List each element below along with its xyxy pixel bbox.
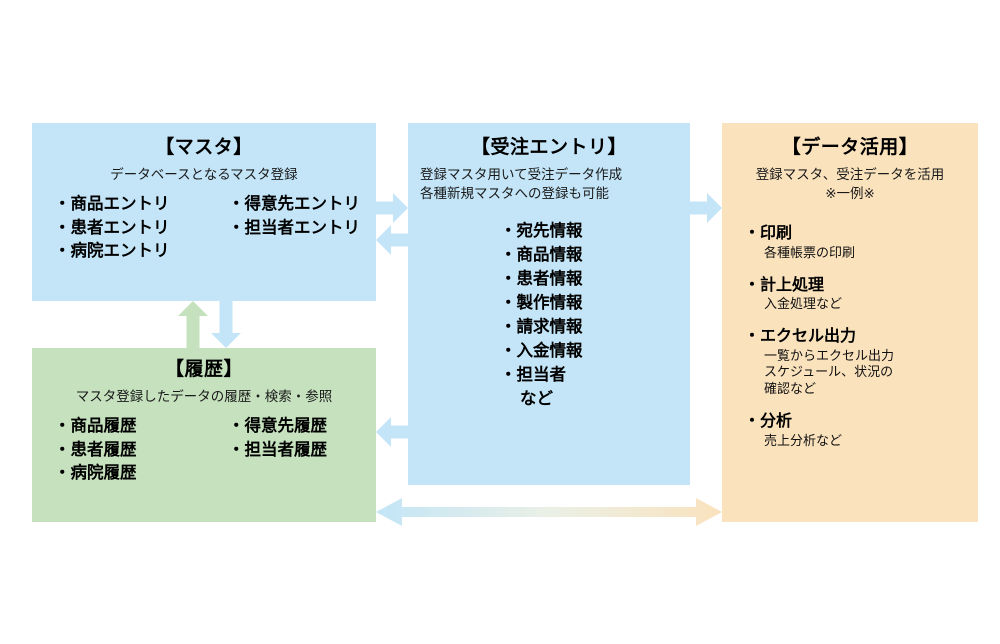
list-item: 入金情報 [500, 340, 690, 364]
list-item: 患者履歴 [54, 439, 137, 463]
data-group-description: 確認など [744, 381, 978, 398]
data-group-excel-export: エクセル出力 一覧からエクセル出力 スケジュール、状況の 確認など [744, 327, 978, 398]
history-box-subtitle: マスタ登録したデータの履歴・検索・参照 [32, 388, 376, 406]
list-item: 担当者 [500, 364, 690, 388]
order-entry-trailing-note: など [500, 388, 690, 412]
arrow-order-to-history-icon [376, 417, 408, 447]
arrow-order-to-data-icon [690, 193, 722, 223]
data-group-description: 売上分析など [744, 433, 978, 450]
arrow-history-data-bidirectional-icon [376, 496, 722, 528]
master-box-subtitle: データベースとなるマスタ登録 [32, 166, 376, 184]
list-item: 宛先情報 [500, 220, 690, 244]
history-list-column-right: 得意先履歴 担当者履歴 [228, 415, 327, 462]
list-item: 得意先エントリ [228, 193, 360, 217]
master-box: 【マスタ】 データベースとなるマスタ登録 商品エントリ 患者エントリ 病院エント… [32, 123, 376, 301]
diagram-canvas: 【マスタ】 データベースとなるマスタ登録 商品エントリ 患者エントリ 病院エント… [0, 0, 1000, 644]
data-utilization-box: 【データ活用】 登録マスタ、受注データを活用 ※一例※ 印刷 各種帳票の印刷 計… [722, 123, 978, 522]
arrow-order-to-master-icon [376, 225, 408, 255]
history-list-column-left: 商品履歴 患者履歴 病院履歴 [54, 415, 137, 486]
arrow-master-to-history-icon [211, 301, 241, 348]
order-entry-subtitle-2: 各種新規マスタへの登録も可能 [408, 185, 690, 203]
data-group-heading: エクセル出力 [744, 327, 978, 348]
list-item: 商品履歴 [54, 415, 137, 439]
data-group-print: 印刷 各種帳票の印刷 [744, 224, 978, 261]
list-item: 担当者履歴 [228, 439, 327, 463]
list-item: 商品情報 [500, 244, 690, 268]
data-group-description: 入金処理など [744, 296, 978, 313]
data-group-description: スケジュール、状況の [744, 364, 978, 381]
data-utilization-subtitle-1: 登録マスタ、受注データを活用 [722, 166, 978, 184]
data-group-heading: 分析 [744, 412, 978, 433]
data-utilization-subtitle-2: ※一例※ [722, 185, 978, 203]
arrow-master-to-order-icon [376, 193, 408, 223]
order-entry-subtitle-1: 登録マスタ用いて受注データ作成 [408, 166, 690, 184]
data-utilization-list: 印刷 各種帳票の印刷 計上処理 入金処理など エクセル出力 一覧からエクセル出力… [722, 224, 978, 449]
data-group-heading: 印刷 [744, 224, 978, 245]
list-item: 請求情報 [500, 316, 690, 340]
data-group-description: 一覧からエクセル出力 [744, 348, 978, 365]
order-entry-box: 【受注エントリ】 登録マスタ用いて受注データ作成 各種新規マスタへの登録も可能 … [408, 123, 690, 485]
history-box: 【履歴】 マスタ登録したデータの履歴・検索・参照 商品履歴 患者履歴 病院履歴 … [32, 348, 376, 522]
arrow-history-to-master-icon [178, 301, 208, 348]
list-item: 製作情報 [500, 292, 690, 316]
master-list-column-left: 商品エントリ 患者エントリ 病院エントリ [54, 193, 170, 264]
data-utilization-box-title: 【データ活用】 [722, 136, 978, 160]
list-item: 患者エントリ [54, 217, 170, 241]
order-entry-box-title: 【受注エントリ】 [408, 136, 690, 160]
list-item: 病院エントリ [54, 240, 170, 264]
list-item: 得意先履歴 [228, 415, 327, 439]
data-group-accounting: 計上処理 入金処理など [744, 276, 978, 313]
list-item: 患者情報 [500, 268, 690, 292]
history-box-title: 【履歴】 [32, 358, 376, 382]
list-item: 商品エントリ [54, 193, 170, 217]
data-group-analysis: 分析 売上分析など [744, 412, 978, 449]
data-group-description: 各種帳票の印刷 [744, 245, 978, 262]
list-item: 病院履歴 [54, 462, 137, 486]
master-list-column-right: 得意先エントリ 担当者エントリ [228, 193, 360, 240]
order-entry-list: 宛先情報 商品情報 患者情報 製作情報 請求情報 入金情報 担当者 など [408, 220, 690, 411]
data-group-heading: 計上処理 [744, 276, 978, 297]
list-item: 担当者エントリ [228, 217, 360, 241]
master-box-title: 【マスタ】 [32, 136, 376, 160]
